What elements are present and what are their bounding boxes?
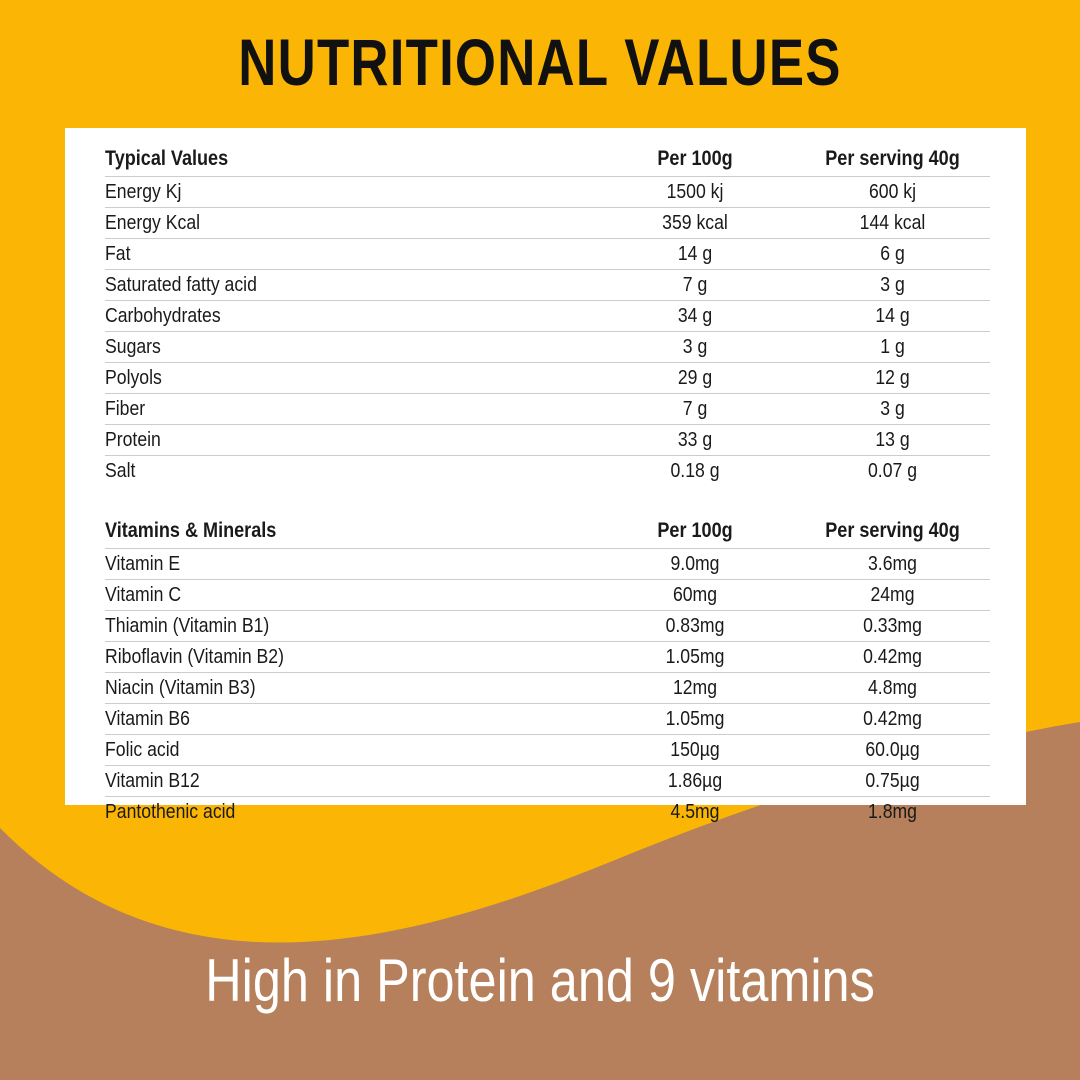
row-value-per-serving: 600 kj bbox=[809, 180, 977, 204]
row-name-cell: Energy Kcal bbox=[105, 208, 595, 239]
table-row: Vitamin C 60mg 24mg bbox=[105, 580, 990, 611]
row-name-cell: Fat bbox=[105, 239, 595, 270]
row-per-100g-cell: 150µg bbox=[595, 735, 795, 766]
row-value-per-100g: 14 g bbox=[609, 242, 781, 266]
table-row: Vitamin E 9.0mg 3.6mg bbox=[105, 549, 990, 580]
row-per-100g-cell: 29 g bbox=[595, 363, 795, 394]
row-value-per-100g: 33 g bbox=[609, 428, 781, 452]
row-per-serving-cell: 1 g bbox=[795, 332, 990, 363]
row-name-cell: Riboflavin (Vitamin B2) bbox=[105, 642, 595, 673]
row-value-per-serving: 1.8mg bbox=[809, 800, 977, 824]
row-per-100g-cell: 1.86µg bbox=[595, 766, 795, 797]
header-cell-per-100g: Per 100g bbox=[595, 142, 795, 177]
row-name-cell: Vitamin B6 bbox=[105, 704, 595, 735]
row-per-serving-cell: 6 g bbox=[795, 239, 990, 270]
row-value-per-100g: 7 g bbox=[609, 397, 781, 421]
row-name-cell: Vitamin B12 bbox=[105, 766, 595, 797]
section-spacer bbox=[105, 486, 990, 514]
row-per-serving-cell: 13 g bbox=[795, 425, 990, 456]
row-label: Polyols bbox=[105, 366, 526, 390]
row-per-100g-cell: 3 g bbox=[595, 332, 795, 363]
row-name-cell: Vitamin C bbox=[105, 580, 595, 611]
row-label: Energy Kcal bbox=[105, 211, 526, 235]
vitamins-header-label-per-100g: Per 100g bbox=[609, 519, 781, 543]
row-value-per-serving: 0.42mg bbox=[809, 707, 977, 731]
vitamins-header-cell-name: Vitamins & Minerals bbox=[105, 514, 595, 549]
row-per-100g-cell: 14 g bbox=[595, 239, 795, 270]
table-row: Thiamin (Vitamin B1) 0.83mg 0.33mg bbox=[105, 611, 990, 642]
row-label: Energy Kj bbox=[105, 180, 526, 204]
row-label: Niacin (Vitamin B3) bbox=[105, 676, 526, 700]
row-per-100g-cell: 1.05mg bbox=[595, 642, 795, 673]
table-row: Protein 33 g 13 g bbox=[105, 425, 990, 456]
row-per-serving-cell: 600 kj bbox=[795, 177, 990, 208]
row-label: Vitamin B6 bbox=[105, 707, 526, 731]
row-per-serving-cell: 0.33mg bbox=[795, 611, 990, 642]
row-per-100g-cell: 7 g bbox=[595, 270, 795, 301]
row-name-cell: Saturated fatty acid bbox=[105, 270, 595, 301]
row-value-per-100g: 1.86µg bbox=[609, 769, 781, 793]
row-value-per-serving: 6 g bbox=[809, 242, 977, 266]
row-value-per-100g: 1500 kj bbox=[609, 180, 781, 204]
row-name-cell: Salt bbox=[105, 456, 595, 487]
row-value-per-100g: 12mg bbox=[609, 676, 781, 700]
table-row: Fiber 7 g 3 g bbox=[105, 394, 990, 425]
row-per-100g-cell: 0.18 g bbox=[595, 456, 795, 487]
table-row: Fat 14 g 6 g bbox=[105, 239, 990, 270]
row-per-100g-cell: 0.83mg bbox=[595, 611, 795, 642]
row-name-cell: Protein bbox=[105, 425, 595, 456]
row-value-per-100g: 1.05mg bbox=[609, 707, 781, 731]
row-value-per-serving: 60.0µg bbox=[809, 738, 977, 762]
nutrition-table: Typical Values Per 100g Per serving 40g … bbox=[105, 142, 990, 827]
row-label: Vitamin B12 bbox=[105, 769, 526, 793]
row-per-100g-cell: 12mg bbox=[595, 673, 795, 704]
row-name-cell: Vitamin E bbox=[105, 549, 595, 580]
row-value-per-serving: 24mg bbox=[809, 583, 977, 607]
table-row: Polyols 29 g 12 g bbox=[105, 363, 990, 394]
row-per-serving-cell: 0.07 g bbox=[795, 456, 990, 487]
row-value-per-100g: 34 g bbox=[609, 304, 781, 328]
table-row: Salt 0.18 g 0.07 g bbox=[105, 456, 990, 487]
row-per-serving-cell: 24mg bbox=[795, 580, 990, 611]
row-per-100g-cell: 34 g bbox=[595, 301, 795, 332]
vitamins-header-cell-per-serving: Per serving 40g bbox=[795, 514, 990, 549]
nutrition-card: Typical Values Per 100g Per serving 40g … bbox=[65, 128, 1026, 805]
row-per-serving-cell: 14 g bbox=[795, 301, 990, 332]
row-label: Sugars bbox=[105, 335, 526, 359]
vitamins-header-row: Vitamins & Minerals Per 100g Per serving… bbox=[105, 514, 990, 549]
row-value-per-100g: 359 kcal bbox=[609, 211, 781, 235]
vitamins-header-label: Vitamins & Minerals bbox=[105, 519, 526, 543]
row-value-per-serving: 0.33mg bbox=[809, 614, 977, 638]
row-label: Fiber bbox=[105, 397, 526, 421]
row-label: Carbohydrates bbox=[105, 304, 526, 328]
row-per-serving-cell: 0.42mg bbox=[795, 704, 990, 735]
table-row: Vitamin B6 1.05mg 0.42mg bbox=[105, 704, 990, 735]
row-name-cell: Niacin (Vitamin B3) bbox=[105, 673, 595, 704]
row-name-cell: Polyols bbox=[105, 363, 595, 394]
row-label: Protein bbox=[105, 428, 526, 452]
row-value-per-serving: 3.6mg bbox=[809, 552, 977, 576]
row-value-per-100g: 150µg bbox=[609, 738, 781, 762]
nutrition-table-body: Typical Values Per 100g Per serving 40g … bbox=[105, 142, 990, 827]
row-per-serving-cell: 0.75µg bbox=[795, 766, 990, 797]
row-label: Vitamin E bbox=[105, 552, 526, 576]
table-row: Energy Kcal 359 kcal 144 kcal bbox=[105, 208, 990, 239]
table-row: Niacin (Vitamin B3) 12mg 4.8mg bbox=[105, 673, 990, 704]
row-per-serving-cell: 4.8mg bbox=[795, 673, 990, 704]
row-value-per-serving: 0.75µg bbox=[809, 769, 977, 793]
row-value-per-100g: 1.05mg bbox=[609, 645, 781, 669]
row-name-cell: Sugars bbox=[105, 332, 595, 363]
header-cell-per-serving: Per serving 40g bbox=[795, 142, 990, 177]
row-value-per-100g: 0.18 g bbox=[609, 459, 781, 483]
vitamins-header-cell-per-100g: Per 100g bbox=[595, 514, 795, 549]
row-name-cell: Energy Kj bbox=[105, 177, 595, 208]
vitamins-header-label-per-serving: Per serving 40g bbox=[809, 519, 977, 543]
spacer-cell bbox=[105, 486, 595, 514]
row-label: Vitamin C bbox=[105, 583, 526, 607]
header-label-per-100g: Per 100g bbox=[609, 147, 781, 171]
header-cell-name: Typical Values bbox=[105, 142, 595, 177]
row-name-cell: Fiber bbox=[105, 394, 595, 425]
table-row: Carbohydrates 34 g 14 g bbox=[105, 301, 990, 332]
row-per-serving-cell: 3 g bbox=[795, 394, 990, 425]
table-row: Folic acid 150µg 60.0µg bbox=[105, 735, 990, 766]
table-row: Energy Kj 1500 kj 600 kj bbox=[105, 177, 990, 208]
row-value-per-serving: 3 g bbox=[809, 273, 977, 297]
row-per-serving-cell: 3 g bbox=[795, 270, 990, 301]
row-per-serving-cell: 12 g bbox=[795, 363, 990, 394]
row-value-per-serving: 4.8mg bbox=[809, 676, 977, 700]
table-row: Pantothenic acid 4.5mg 1.8mg bbox=[105, 797, 990, 828]
row-value-per-serving: 0.07 g bbox=[809, 459, 977, 483]
table-row: Vitamin B12 1.86µg 0.75µg bbox=[105, 766, 990, 797]
row-value-per-100g: 9.0mg bbox=[609, 552, 781, 576]
row-per-serving-cell: 0.42mg bbox=[795, 642, 990, 673]
row-value-per-100g: 29 g bbox=[609, 366, 781, 390]
table-row: Riboflavin (Vitamin B2) 1.05mg 0.42mg bbox=[105, 642, 990, 673]
row-per-100g-cell: 1.05mg bbox=[595, 704, 795, 735]
spacer-cell bbox=[595, 486, 795, 514]
row-per-serving-cell: 1.8mg bbox=[795, 797, 990, 828]
tagline-text: High in Protein and 9 vitamins bbox=[86, 948, 993, 1014]
table-row: Saturated fatty acid 7 g 3 g bbox=[105, 270, 990, 301]
row-per-100g-cell: 359 kcal bbox=[595, 208, 795, 239]
row-value-per-serving: 14 g bbox=[809, 304, 977, 328]
row-value-per-100g: 3 g bbox=[609, 335, 781, 359]
row-label: Fat bbox=[105, 242, 526, 266]
row-value-per-100g: 4.5mg bbox=[609, 800, 781, 824]
row-per-100g-cell: 1500 kj bbox=[595, 177, 795, 208]
row-label: Riboflavin (Vitamin B2) bbox=[105, 645, 526, 669]
row-per-100g-cell: 4.5mg bbox=[595, 797, 795, 828]
row-per-serving-cell: 60.0µg bbox=[795, 735, 990, 766]
row-per-100g-cell: 60mg bbox=[595, 580, 795, 611]
header-label-typical-values: Typical Values bbox=[105, 147, 526, 171]
row-label: Thiamin (Vitamin B1) bbox=[105, 614, 526, 638]
row-name-cell: Pantothenic acid bbox=[105, 797, 595, 828]
row-per-serving-cell: 3.6mg bbox=[795, 549, 990, 580]
page-title: NUTRITIONAL VALUES bbox=[108, 26, 972, 99]
row-label: Pantothenic acid bbox=[105, 800, 526, 824]
row-name-cell: Carbohydrates bbox=[105, 301, 595, 332]
row-name-cell: Folic acid bbox=[105, 735, 595, 766]
row-value-per-100g: 0.83mg bbox=[609, 614, 781, 638]
row-label: Saturated fatty acid bbox=[105, 273, 526, 297]
row-value-per-100g: 60mg bbox=[609, 583, 781, 607]
row-value-per-serving: 3 g bbox=[809, 397, 977, 421]
table-header-row: Typical Values Per 100g Per serving 40g bbox=[105, 142, 990, 177]
row-value-per-100g: 7 g bbox=[609, 273, 781, 297]
row-name-cell: Thiamin (Vitamin B1) bbox=[105, 611, 595, 642]
row-value-per-serving: 13 g bbox=[809, 428, 977, 452]
spacer-cell bbox=[795, 486, 990, 514]
nutrition-card-content: Typical Values Per 100g Per serving 40g … bbox=[105, 142, 990, 827]
row-label: Salt bbox=[105, 459, 526, 483]
nutrition-poster: NUTRITIONAL VALUES Typical Values Per 10… bbox=[0, 0, 1080, 1080]
row-label: Folic acid bbox=[105, 738, 526, 762]
row-value-per-serving: 1 g bbox=[809, 335, 977, 359]
row-per-serving-cell: 144 kcal bbox=[795, 208, 990, 239]
table-row: Sugars 3 g 1 g bbox=[105, 332, 990, 363]
row-value-per-serving: 144 kcal bbox=[809, 211, 977, 235]
row-per-100g-cell: 9.0mg bbox=[595, 549, 795, 580]
header-label-per-serving: Per serving 40g bbox=[809, 147, 977, 171]
row-value-per-serving: 12 g bbox=[809, 366, 977, 390]
row-per-100g-cell: 33 g bbox=[595, 425, 795, 456]
row-per-100g-cell: 7 g bbox=[595, 394, 795, 425]
row-value-per-serving: 0.42mg bbox=[809, 645, 977, 669]
